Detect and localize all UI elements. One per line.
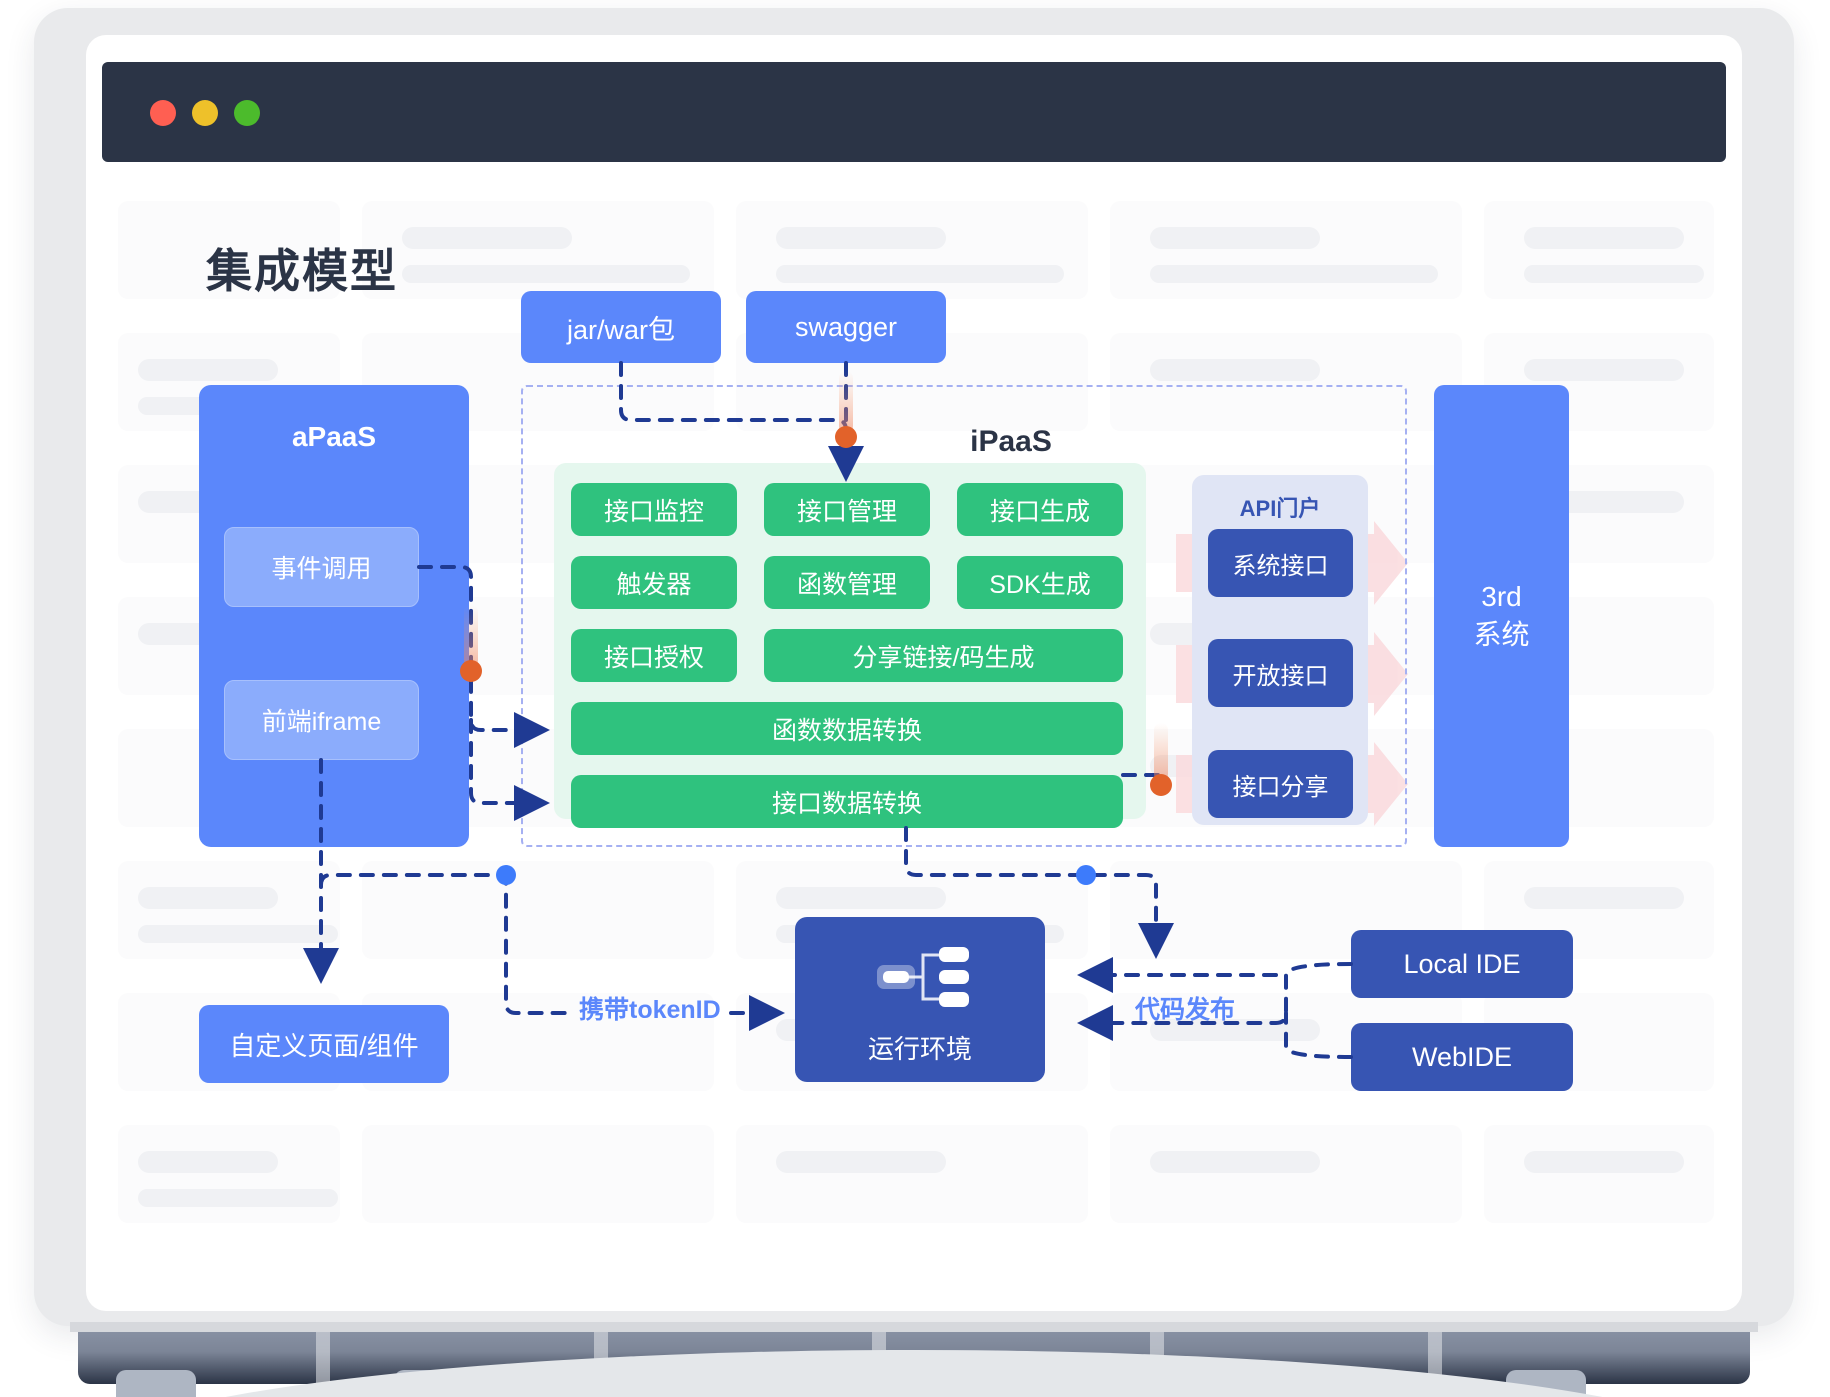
runtime-environment[interactable]: 运行环境 (795, 917, 1045, 1082)
device-shell: 集成模型 iPaaS API门户 aPaaS 事件调用 (34, 8, 1794, 1326)
capability-interface-generation[interactable]: 接口生成 (957, 483, 1123, 536)
api-portal-item-label: 接口分享 (1233, 767, 1329, 802)
runtime-label: 运行环境 (795, 1029, 1045, 1066)
runtime-tree-icon (865, 935, 975, 1019)
capability-sdk-generation[interactable]: SDK生成 (957, 556, 1123, 609)
api-portal-item-interface-share[interactable]: 接口分享 (1208, 750, 1353, 818)
capability-label: 函数数据转换 (772, 711, 922, 747)
capability-share-link-qr[interactable]: 分享链接/码生成 (764, 629, 1123, 682)
minimize-icon[interactable] (192, 100, 218, 126)
diagram-canvas: 集成模型 iPaaS API门户 aPaaS 事件调用 (86, 175, 1742, 1311)
source-jar-war[interactable]: jar/war包 (521, 291, 721, 363)
device-screen: 集成模型 iPaaS API门户 aPaaS 事件调用 (86, 35, 1742, 1311)
capability-interface-data-transform[interactable]: 接口数据转换 (571, 775, 1123, 828)
page-title: 集成模型 (206, 235, 398, 301)
capability-label: 接口监控 (604, 492, 704, 528)
apaas-item-event-call[interactable]: 事件调用 (224, 527, 419, 607)
source-swagger[interactable]: swagger (746, 291, 946, 363)
apaas-item-label: 事件调用 (271, 549, 371, 585)
capability-label: 接口数据转换 (772, 784, 922, 820)
local-ide-box[interactable]: Local IDE (1351, 930, 1573, 998)
capability-function-management[interactable]: 函数管理 (764, 556, 930, 609)
maximize-icon[interactable] (234, 100, 260, 126)
browser-titlebar (102, 62, 1726, 162)
apaas-title: aPaaS (199, 421, 469, 453)
third-party-line2: 系统 (1473, 616, 1529, 654)
capability-label: 接口管理 (797, 492, 897, 528)
wire-junction-dot (496, 865, 516, 885)
source-label: jar/war包 (567, 308, 675, 347)
apaas-item-frontend-iframe[interactable]: 前端iframe (224, 680, 419, 760)
capability-label: 接口生成 (990, 492, 1090, 528)
code-publish-label: 代码发布 (1135, 990, 1235, 1026)
capability-trigger[interactable]: 触发器 (571, 556, 737, 609)
token-label: 携带tokenID (579, 990, 721, 1026)
third-party-line1: 3rd (1481, 578, 1521, 616)
api-portal-item-label: 开放接口 (1233, 656, 1329, 691)
capability-label: 接口授权 (604, 638, 704, 674)
custom-page-label: 自定义页面/组件 (229, 1026, 418, 1063)
apaas-panel: aPaaS (199, 385, 469, 847)
capability-interface-authorization[interactable]: 接口授权 (571, 629, 737, 682)
webide-box[interactable]: WebIDE (1351, 1023, 1573, 1091)
close-icon[interactable] (150, 100, 176, 126)
capability-interface-management[interactable]: 接口管理 (764, 483, 930, 536)
api-portal-title: API门户 (1192, 491, 1368, 523)
third-party-system[interactable]: 3rd 系统 (1434, 385, 1569, 847)
api-portal-item-system-interface[interactable]: 系统接口 (1208, 529, 1353, 597)
ide-label: WebIDE (1412, 1042, 1512, 1073)
api-portal-item-open-interface[interactable]: 开放接口 (1208, 639, 1353, 707)
capability-function-data-transform[interactable]: 函数数据转换 (571, 702, 1123, 755)
custom-page-component[interactable]: 自定义页面/组件 (199, 1005, 449, 1083)
ipaas-title: iPaaS (931, 425, 1091, 459)
capability-label: 分享链接/码生成 (853, 638, 1035, 674)
capability-label: SDK生成 (989, 565, 1090, 601)
screenshot-root: 集成模型 iPaaS API门户 aPaaS 事件调用 (0, 0, 1830, 1397)
capability-interface-monitor[interactable]: 接口监控 (571, 483, 737, 536)
api-portal-item-label: 系统接口 (1233, 546, 1329, 581)
capability-label: 触发器 (616, 565, 691, 601)
laptop-base (78, 1322, 1750, 1384)
wire-junction-dot (1076, 865, 1096, 885)
apaas-item-label: 前端iframe (262, 702, 381, 738)
capability-label: 函数管理 (797, 565, 897, 601)
source-label: swagger (795, 312, 897, 343)
ide-label: Local IDE (1403, 949, 1520, 980)
